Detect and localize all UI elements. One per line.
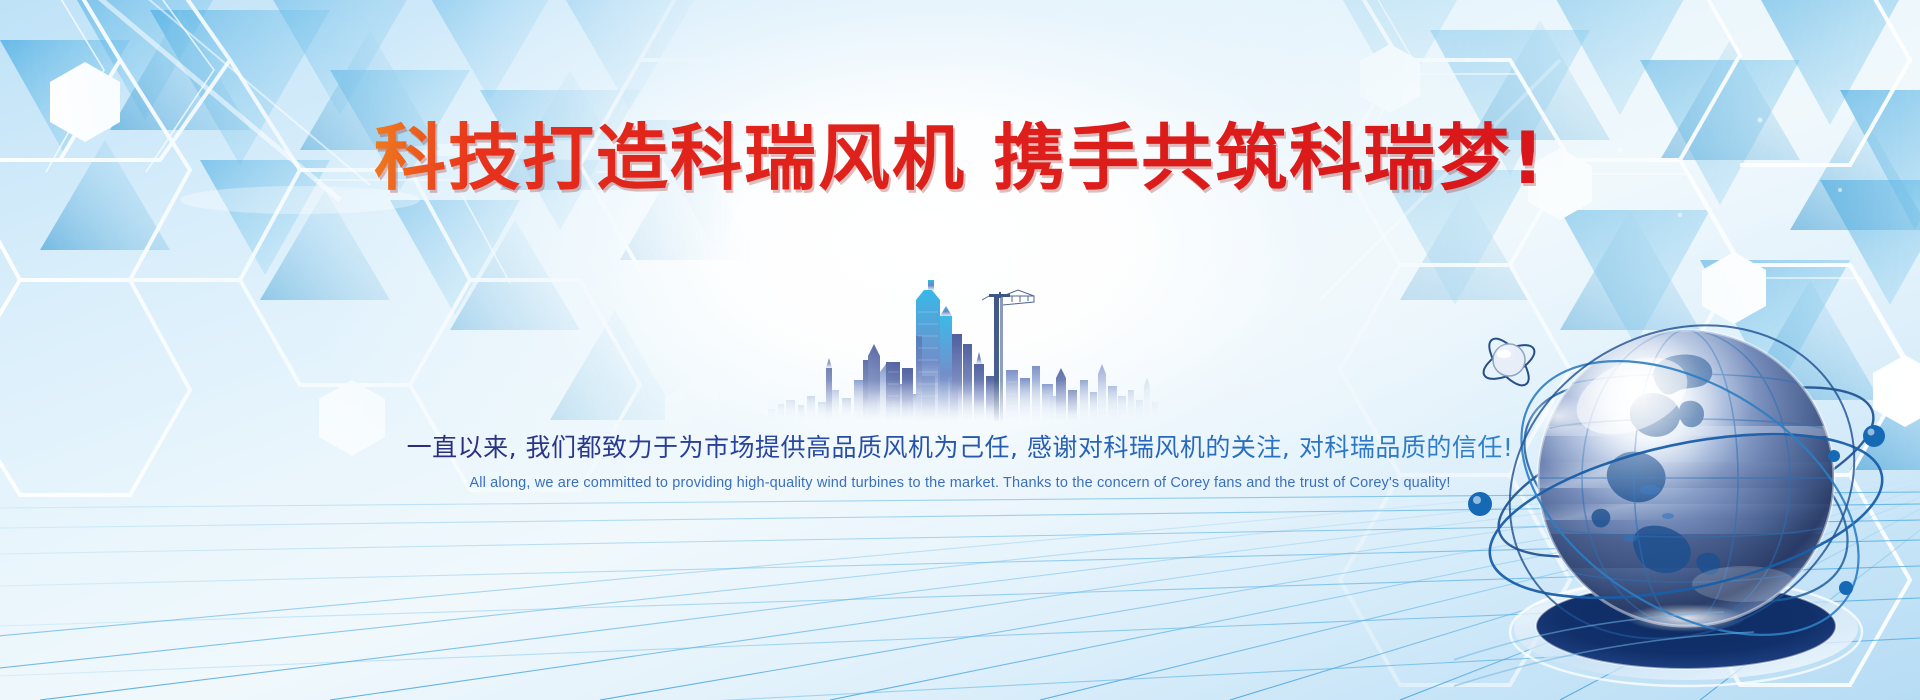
page-title: 科技打造科瑞风机 携手共筑科瑞梦! xyxy=(374,120,1546,198)
city-skyline-illustration xyxy=(750,272,1170,422)
headline-block: 科技打造科瑞风机 携手共筑科瑞梦! xyxy=(0,120,1920,198)
chrome-globe-with-orbits xyxy=(1454,266,1914,700)
subtitle-chinese: 一直以来, 我们都致力于为市场提供高品质风机为己任, 感谢对科瑞风机的关注, 对… xyxy=(407,428,1514,464)
promo-banner: 科技打造科瑞风机 携手共筑科瑞梦! 一直以来, 我们都致力于为市场提供高品质风机… xyxy=(0,0,1920,700)
